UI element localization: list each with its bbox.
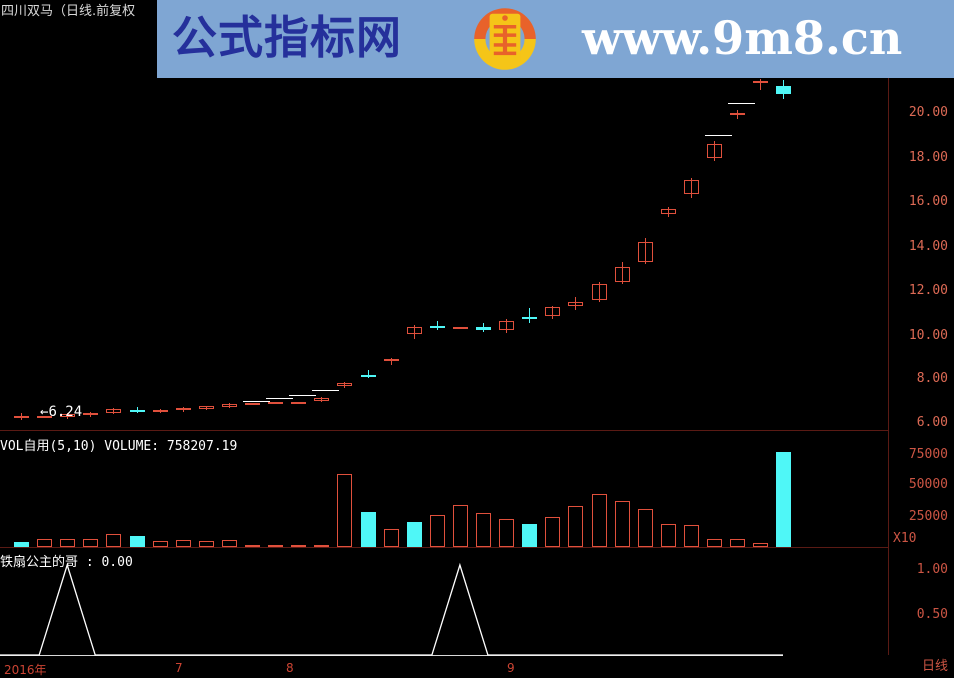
volume-bar [453, 505, 468, 547]
x-axis-label-0: 2016年 [4, 661, 47, 678]
volume-bar [615, 501, 630, 547]
x-axis-label-1: 7 [175, 661, 183, 675]
volume-bar [337, 474, 352, 547]
ma-segment [266, 398, 293, 399]
volume-bar [60, 539, 75, 547]
volume-bar [130, 536, 145, 547]
y-axis-label-price-2: 16.00 [909, 194, 948, 209]
volume-bar [430, 515, 445, 547]
volume-bar [268, 545, 283, 547]
volume-bar [638, 509, 653, 547]
y-axis-label-price-6: 8.00 [917, 371, 948, 386]
y-axis-label-price-0: 20.00 [909, 105, 948, 120]
banner-url-text: www.9m8.cn [582, 8, 902, 68]
volume-bar [545, 517, 560, 547]
ma-segment [705, 135, 732, 136]
volume-bar [153, 541, 168, 547]
y-axis-label-volume-2: 25000 [909, 509, 948, 524]
volume-bar [176, 540, 191, 547]
volume-bar [314, 545, 329, 547]
volume-bar [361, 512, 376, 547]
volume-bar [291, 545, 306, 547]
y-axis-label-indicator-0: 1.00 [917, 562, 948, 577]
indicator-line-series [0, 560, 888, 660]
ma-segment [312, 390, 339, 391]
y-axis-label-price-5: 10.00 [909, 328, 948, 343]
volume-bar [37, 539, 52, 547]
x-axis-label-3: 9 [507, 661, 515, 675]
y-axis-label-price-4: 12.00 [909, 283, 948, 298]
y-axis-label-volume-1: 50000 [909, 477, 948, 492]
volume-bar [476, 513, 491, 547]
y-axis-label-price-3: 14.00 [909, 239, 948, 254]
y-axis-label-indicator-1: 0.50 [917, 607, 948, 622]
y-axis-label-volume-0: 75000 [909, 447, 948, 462]
volume-bar [776, 452, 791, 547]
last-price-marker: ←6.24 [40, 404, 82, 420]
volume-bar [199, 541, 214, 547]
coin-logo-icon [470, 4, 540, 74]
ma-segment [243, 401, 270, 402]
website-banner: 公式指标网 www.9m8.cn [157, 0, 954, 78]
y-axis-line [888, 78, 889, 655]
volume-bar [592, 494, 607, 547]
ma-segment [728, 103, 755, 104]
chart-window: 四川双马（日线.前复权 20.00 18.00 16.00 14.00 12.0… [0, 0, 954, 677]
pane-divider-volume-indicator [0, 547, 888, 548]
volume-bar [14, 542, 29, 547]
volume-bar [661, 524, 676, 547]
banner-brand-text: 公式指标网 [172, 8, 402, 68]
volume-bar [522, 524, 537, 547]
volume-bar [245, 545, 260, 547]
y-axis-label-price-7: 6.00 [917, 415, 948, 430]
volume-bar [106, 534, 121, 547]
volume-bar-series [0, 430, 888, 547]
volume-bar [707, 539, 722, 547]
y-axis-volume-multiplier: X10 [893, 531, 916, 546]
ma-segment [289, 395, 316, 396]
volume-bar [222, 540, 237, 547]
volume-bar [568, 506, 583, 547]
y-axis-period-label: 日线 [922, 655, 948, 674]
volume-bar [384, 529, 399, 547]
x-axis-label-2: 8 [286, 661, 294, 675]
last-price-value: 6.24 [48, 404, 82, 420]
volume-bar [407, 522, 422, 547]
volume-bar [730, 539, 745, 547]
volume-bar [83, 539, 98, 547]
volume-bar [753, 543, 768, 547]
volume-bar [684, 525, 699, 547]
volume-bar [499, 519, 514, 547]
y-axis-label-price-1: 18.00 [909, 150, 948, 165]
